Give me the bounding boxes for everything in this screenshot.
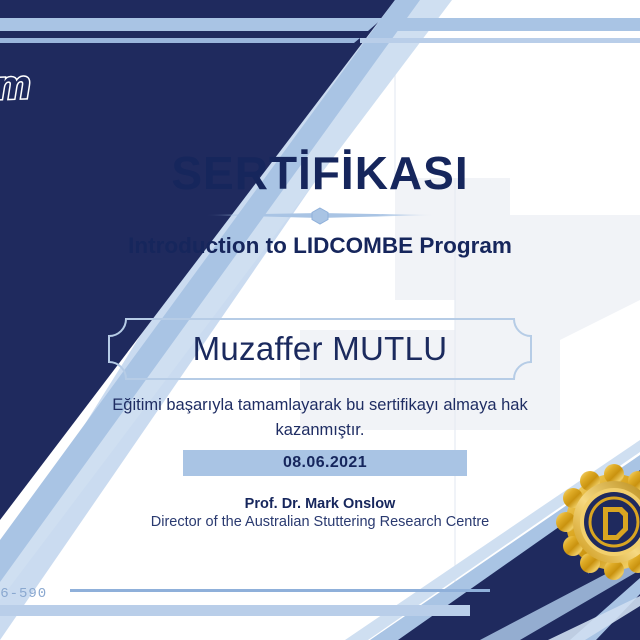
- certificate-content: SERTİFİKASI Introduction to LIDCOMBE Pro…: [0, 0, 640, 640]
- recipient-name: Muzaffer MUTLU: [108, 318, 532, 380]
- signatory-name: Prof. Dr. Mark Onslow: [0, 496, 640, 512]
- certificate-subtitle: Introduction to LIDCOMBE Program: [0, 233, 640, 259]
- recipient-name-plate: Muzaffer MUTLU: [108, 318, 532, 380]
- completion-date-badge: 08.06.2021: [183, 450, 467, 476]
- certificate-title: SERTİFİKASI: [0, 146, 640, 200]
- certificate-number: -746-590: [0, 586, 47, 602]
- completion-statement: Eğitimi başarıyla tamamlayarak bu sertif…: [80, 393, 560, 443]
- certificate-page: em SERTİFİKASI Introduction to LIDCOMBE …: [0, 0, 640, 640]
- signatory-title: Director of the Australian Stuttering Re…: [0, 514, 640, 530]
- title-divider-ornament: [0, 205, 640, 227]
- brand-logo: em: [0, 63, 31, 110]
